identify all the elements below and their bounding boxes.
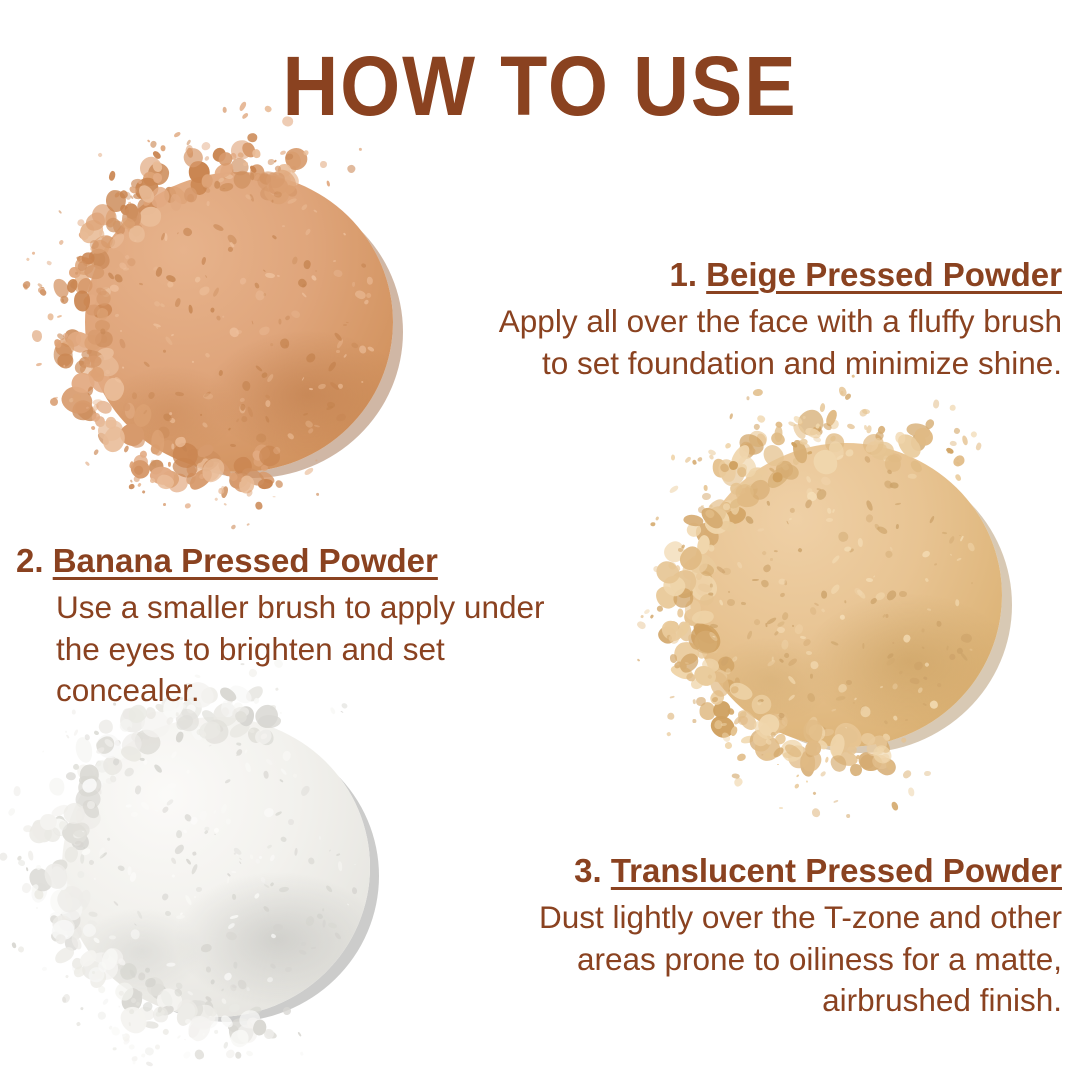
powder-speck — [711, 696, 719, 703]
powder-speck — [202, 1032, 204, 1036]
powder-crumb — [769, 430, 787, 447]
powder-speck — [729, 413, 734, 420]
beige-powder-disc — [85, 172, 393, 472]
powder-speck — [697, 506, 705, 514]
powder-crumb — [257, 478, 273, 490]
powder-crumb — [57, 353, 74, 369]
powder-speck — [61, 298, 64, 302]
powder-crumb — [165, 470, 192, 496]
powder-speck — [89, 240, 99, 250]
powder-speck — [66, 735, 69, 739]
powder-crumb — [48, 930, 62, 944]
powder-speck — [53, 338, 63, 349]
powder-speck — [35, 863, 42, 870]
powder-speck — [118, 991, 124, 997]
powder-speck — [95, 746, 105, 755]
powder-speck — [130, 997, 137, 1004]
powder-speck — [733, 776, 745, 788]
powder-speck — [62, 997, 66, 1003]
powder-crumb — [741, 734, 756, 744]
powder-speck — [72, 763, 81, 772]
powder-crumb — [860, 754, 882, 771]
powder-speck — [42, 966, 47, 970]
powder-speck — [173, 132, 181, 139]
powder-crumb — [168, 462, 171, 467]
powder-speck — [97, 152, 102, 157]
powder-crumb — [227, 1026, 248, 1046]
powder-crumb — [78, 230, 90, 241]
powder-speck — [652, 565, 661, 574]
powder-speck — [64, 731, 67, 734]
powder-speck — [299, 1051, 303, 1056]
step-3-body-line: areas prone to oiliness for a matte, — [539, 939, 1062, 981]
powder-crumb — [133, 192, 143, 199]
powder-speck — [70, 392, 82, 404]
powder-speck — [950, 440, 957, 446]
powder-speck — [80, 1006, 84, 1010]
powder-speck — [129, 480, 132, 483]
powder-speck — [128, 483, 135, 490]
powder-speck — [31, 329, 43, 343]
powder-crumb — [29, 823, 48, 843]
powder-crumb — [227, 1016, 257, 1047]
powder-crumb — [727, 442, 752, 471]
powder-crumb — [829, 434, 837, 442]
powder-speck — [127, 201, 130, 204]
powder-crumb — [742, 442, 754, 453]
powder-crumb — [72, 372, 96, 393]
powder-speck — [128, 1043, 135, 1049]
translucent-powder-swatch — [0, 695, 460, 1080]
powder-crumb — [136, 152, 166, 182]
powder-speck — [732, 774, 740, 780]
powder-crumb — [668, 662, 694, 681]
powder-crumb — [869, 752, 891, 772]
powder-speck — [151, 150, 162, 161]
powder-speck — [137, 179, 142, 184]
powder-speck — [326, 180, 330, 187]
powder-speck — [184, 1019, 190, 1024]
powder-crumb — [870, 742, 895, 767]
powder-speck — [952, 454, 967, 469]
powder-crumb — [828, 753, 849, 775]
powder-speck — [254, 501, 263, 511]
powder-crumb — [74, 360, 89, 376]
powder-speck — [18, 859, 26, 867]
powder-crumb — [118, 188, 129, 199]
powder-speck — [691, 460, 697, 466]
powder-crumb — [739, 442, 754, 459]
powder-speck — [92, 971, 95, 974]
step-1-number: 1. — [669, 256, 697, 293]
powder-crumb — [25, 864, 56, 896]
powder-crumb — [686, 672, 697, 682]
powder-crumb — [682, 514, 704, 528]
powder-crumb — [257, 469, 276, 486]
powder-speck — [315, 460, 317, 462]
powder-speck — [670, 654, 679, 664]
powder-speck — [693, 719, 697, 724]
powder-speck — [885, 760, 896, 771]
powder-speck — [61, 993, 71, 1004]
powder-speck — [721, 722, 728, 726]
powder-speck — [837, 386, 847, 398]
powder-speck — [7, 807, 16, 817]
powder-speck — [199, 141, 211, 153]
powder-crumb — [825, 756, 830, 763]
powder-crumb — [877, 425, 887, 435]
powder-speck — [23, 284, 28, 290]
powder-speck — [213, 1030, 218, 1035]
powder-speck — [177, 1035, 181, 1039]
powder-crumb — [238, 474, 256, 494]
powder-crumb — [90, 202, 116, 226]
powder-crumb — [43, 826, 61, 843]
powder-speck — [736, 753, 747, 763]
powder-crumb — [755, 432, 768, 447]
powder-crumb — [181, 145, 207, 171]
powder-crumb — [61, 340, 70, 348]
powder-crumb — [264, 1029, 278, 1040]
powder-crumb — [283, 149, 305, 172]
powder-speck — [149, 478, 156, 485]
powder-crumb — [199, 474, 204, 479]
step-2-body-line: the eyes to brighten and set — [56, 629, 545, 671]
powder-crumb — [695, 696, 707, 707]
step-3-text-block: 3. Translucent Pressed Powder Dust light… — [539, 852, 1062, 1022]
powder-crumb — [58, 383, 96, 418]
powder-crumb — [675, 650, 701, 677]
powder-speck — [636, 620, 647, 630]
powder-speck — [127, 996, 138, 1007]
powder-crumb — [39, 813, 57, 831]
powder-crumb — [146, 456, 167, 477]
powder-crumb — [660, 574, 687, 600]
powder-speck — [132, 464, 144, 476]
beige-powder-swatch — [0, 150, 470, 550]
step-2-number: 2. — [16, 542, 44, 579]
powder-crumb — [677, 620, 693, 642]
powder-crumb — [216, 150, 235, 169]
powder-speck — [58, 210, 62, 215]
powder-speck — [131, 1056, 139, 1063]
powder-speck — [975, 442, 982, 451]
powder-crumb — [148, 466, 174, 487]
powder-speck — [21, 280, 31, 290]
powder-speck — [90, 425, 95, 430]
powder-crumb — [62, 332, 69, 339]
step-2-text-block: 2. Banana Pressed Powder Use a smaller b… — [16, 542, 545, 712]
powder-crumb — [655, 623, 678, 646]
powder-crumb — [791, 441, 799, 448]
powder-crumb — [263, 1029, 274, 1040]
powder-speck — [862, 409, 871, 415]
powder-speck — [284, 153, 294, 161]
powder-crumb — [105, 209, 118, 228]
powder-crumb — [79, 221, 98, 240]
powder-crumb — [717, 457, 738, 482]
powder-speck — [697, 456, 703, 462]
powder-crumb — [97, 984, 107, 994]
powder-speck — [807, 780, 809, 782]
powder-crumb — [874, 431, 884, 442]
powder-speck — [53, 397, 58, 400]
powder-speck — [756, 415, 766, 424]
powder-crumb — [212, 147, 227, 163]
step-1-body-line: to set foundation and minimize shine. — [499, 343, 1062, 385]
powder-crumb — [62, 934, 80, 953]
powder-crumb — [729, 461, 738, 470]
powder-speck — [194, 1048, 207, 1061]
powder-speck — [266, 158, 275, 167]
powder-crumb — [185, 471, 197, 485]
powder-speck — [23, 825, 33, 833]
powder-crumb — [131, 453, 150, 472]
powder-speck — [108, 1025, 112, 1030]
step-1-text-block: 1. Beige Pressed Powder Apply all over t… — [499, 256, 1062, 384]
powder-crumb — [100, 424, 128, 455]
powder-speck — [59, 295, 69, 306]
step-2-body-line: Use a smaller brush to apply under — [56, 587, 545, 629]
powder-crumb — [74, 256, 95, 275]
powder-crumb — [675, 620, 693, 640]
powder-crumb — [911, 434, 926, 451]
powder-speck — [114, 191, 121, 198]
powder-crumb — [70, 956, 84, 971]
powder-speck — [955, 458, 959, 461]
powder-speck — [933, 399, 940, 408]
powder-crumb — [666, 561, 677, 571]
step-1-product-name: Beige Pressed Powder — [706, 256, 1062, 293]
powder-speck — [788, 421, 797, 428]
banana-powder-disc — [690, 443, 1002, 747]
powder-speck — [41, 287, 44, 288]
powder-speck — [176, 712, 179, 716]
powder-crumb — [815, 427, 825, 437]
powder-speck — [39, 288, 48, 297]
powder-speck — [122, 1036, 131, 1044]
powder-speck — [754, 423, 761, 430]
powder-crumb — [47, 910, 64, 927]
powder-speck — [273, 159, 276, 162]
powder-speck — [669, 485, 680, 495]
powder-crumb — [750, 731, 785, 766]
powder-speck — [122, 1037, 130, 1045]
powder-crumb — [240, 140, 258, 160]
powder-crumb — [245, 1015, 259, 1029]
powder-speck — [149, 140, 157, 148]
powder-speck — [832, 799, 838, 803]
powder-crumb — [60, 914, 68, 922]
powder-crumb — [661, 538, 689, 566]
powder-speck — [819, 770, 826, 777]
powder-crumb — [730, 725, 739, 737]
powder-speck — [702, 492, 712, 500]
powder-speck — [640, 615, 643, 619]
step-1-body-line: Apply all over the face with a fluffy br… — [499, 301, 1062, 343]
powder-speck — [670, 695, 675, 698]
powder-speck — [225, 1048, 237, 1060]
powder-speck — [856, 754, 861, 759]
powder-crumb — [80, 251, 95, 266]
powder-crumb — [105, 189, 127, 213]
step-2-product-name: Banana Pressed Powder — [53, 542, 438, 579]
powder-speck — [25, 867, 28, 872]
powder-crumb — [127, 456, 153, 482]
powder-speck — [28, 850, 34, 860]
powder-speck — [152, 172, 162, 183]
powder-crumb — [129, 461, 134, 468]
powder-speck — [746, 396, 749, 400]
powder-crumb — [735, 462, 749, 477]
powder-speck — [137, 482, 142, 487]
powder-crumb — [71, 399, 95, 422]
powder-crumb — [677, 661, 688, 672]
powder-speck — [56, 314, 61, 318]
powder-speck — [708, 448, 717, 456]
powder-speck — [358, 147, 361, 150]
powder-crumb — [220, 485, 229, 498]
powder-speck — [796, 775, 800, 779]
powder-crumb — [53, 820, 59, 826]
powder-speck — [775, 421, 784, 429]
powder-speck — [346, 163, 357, 174]
powder-speck — [753, 388, 764, 396]
powder-speck — [858, 408, 869, 418]
powder-crumb — [797, 420, 803, 426]
powder-speck — [77, 218, 85, 226]
powder-speck — [710, 505, 713, 508]
powder-speck — [656, 605, 664, 613]
powder-speck — [890, 801, 899, 812]
powder-speck — [282, 1006, 292, 1015]
powder-speck — [182, 1050, 192, 1060]
powder-crumb — [711, 458, 729, 480]
powder-speck — [843, 392, 852, 401]
powder-speck — [130, 195, 134, 199]
powder-speck — [908, 787, 915, 797]
powder-speck — [297, 1032, 302, 1037]
powder-crumb — [877, 746, 886, 755]
powder-crumb — [69, 266, 81, 278]
powder-crumb — [234, 1021, 259, 1046]
powder-speck — [93, 448, 100, 455]
powder-speck — [650, 614, 654, 619]
powder-speck — [93, 399, 103, 406]
powder-crumb — [184, 1014, 213, 1045]
powder-speck — [36, 907, 39, 909]
powder-speck — [721, 732, 732, 744]
powder-crumb — [227, 1023, 240, 1034]
powder-crumb — [114, 740, 121, 748]
powder-crumb — [72, 398, 100, 424]
powder-crumb — [676, 627, 684, 634]
powder-speck — [761, 754, 764, 756]
powder-speck — [135, 1001, 141, 1007]
powder-crumb — [904, 421, 931, 440]
powder-speck — [273, 496, 276, 497]
powder-crumb — [141, 170, 160, 188]
powder-crumb — [50, 875, 57, 880]
powder-speck — [10, 942, 16, 949]
powder-crumb — [787, 744, 810, 769]
powder-crumb — [229, 152, 236, 160]
powder-speck — [678, 548, 683, 552]
powder-crumb — [74, 735, 95, 764]
powder-speck — [812, 791, 816, 795]
powder-crumb — [97, 717, 116, 736]
powder-crumb — [66, 771, 77, 780]
powder-speck — [950, 404, 956, 410]
powder-speck — [85, 461, 91, 467]
powder-speck — [685, 662, 689, 665]
powder-speck — [222, 1041, 228, 1049]
powder-speck — [902, 769, 913, 780]
powder-speck — [139, 449, 148, 458]
step-2-heading: 2. Banana Pressed Powder — [16, 542, 545, 581]
powder-crumb — [71, 959, 82, 974]
powder-speck — [280, 712, 282, 714]
powder-speck — [76, 259, 88, 272]
powder-crumb — [228, 1026, 252, 1050]
powder-speck — [900, 737, 907, 744]
powder-speck — [714, 720, 723, 730]
powder-speck — [32, 251, 36, 254]
powder-speck — [823, 422, 833, 431]
powder-speck — [119, 1006, 121, 1008]
powder-speck — [792, 415, 803, 426]
step-2-body-line: concealer. — [56, 670, 545, 712]
banana-powder-swatch — [600, 420, 1080, 840]
powder-speck — [90, 246, 95, 252]
powder-speck — [230, 523, 237, 529]
powder-speck — [128, 185, 138, 195]
powder-speck — [93, 730, 99, 736]
powder-speck — [26, 257, 30, 261]
powder-speck — [157, 1007, 162, 1014]
powder-crumb — [848, 763, 863, 778]
powder-speck — [924, 417, 936, 429]
powder-crumb — [793, 405, 829, 441]
powder-speck — [145, 1047, 155, 1057]
powder-speck — [65, 975, 69, 979]
powder-speck — [238, 477, 242, 483]
powder-speck — [161, 145, 166, 152]
powder-speck — [122, 1033, 126, 1036]
powder-crumb — [823, 408, 838, 427]
powder-speck — [204, 155, 210, 161]
powder-crumb — [76, 216, 108, 248]
powder-speck — [163, 1028, 170, 1035]
powder-crumb — [800, 750, 815, 776]
powder-speck — [955, 461, 959, 465]
powder-crumb — [147, 162, 170, 186]
powder-speck — [49, 397, 58, 407]
powder-crumb — [119, 203, 131, 217]
powder-speck — [96, 1010, 106, 1020]
powder-crumb — [76, 254, 87, 264]
powder-speck — [146, 1061, 154, 1067]
powder-speck — [738, 716, 748, 726]
powder-crumb — [102, 999, 109, 1006]
powder-crumb — [830, 745, 859, 768]
powder-crumb — [866, 425, 872, 434]
powder-crumb — [28, 880, 49, 904]
powder-speck — [840, 390, 844, 395]
powder-speck — [802, 415, 806, 419]
step-1-body: Apply all over the face with a fluffy br… — [499, 301, 1062, 384]
powder-crumb — [92, 403, 100, 412]
